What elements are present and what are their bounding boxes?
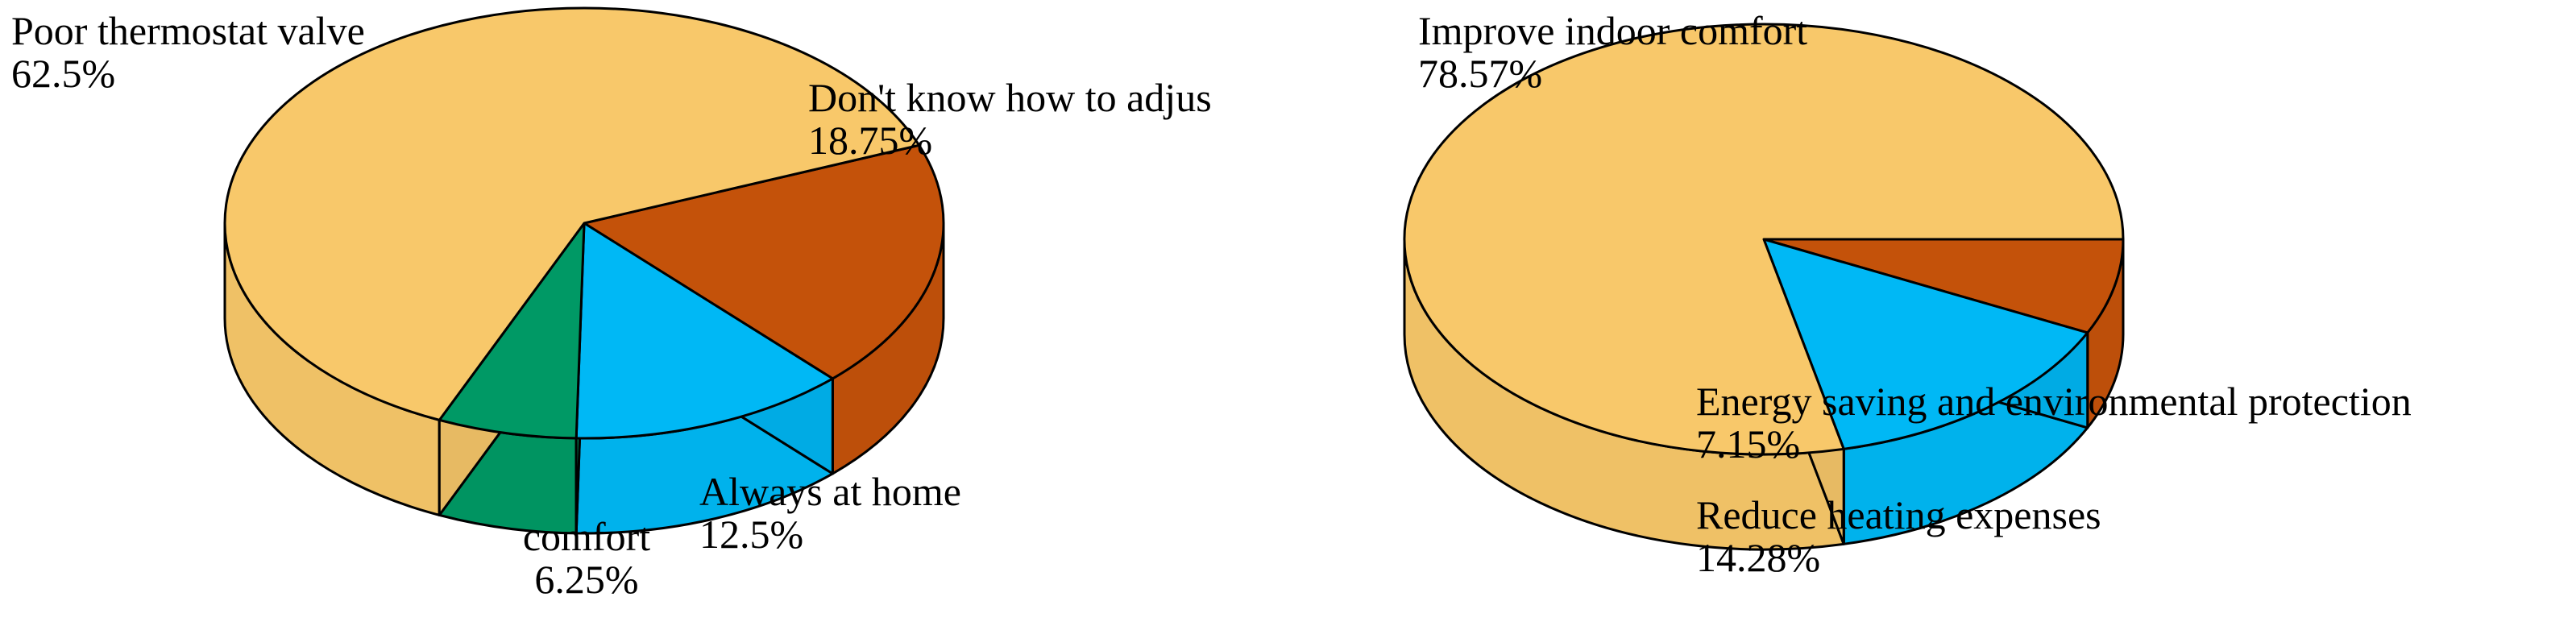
label-comfort-pct: 6.25% <box>514 558 659 601</box>
label-poor-thermostat-valve-name: Poor thermostat valve <box>11 8 365 53</box>
label-reduce-heating-expenses-pct: 14.28% <box>1696 537 2101 579</box>
label-dont-know-how-to-adjust: Don't know how to adjus 18.75% <box>808 77 1212 162</box>
label-energy-saving-pct: 7.15% <box>1696 423 2412 466</box>
label-always-at-home-pct: 12.5% <box>699 513 961 556</box>
pie-charts-figure: Poor thermostat valve 62.5% Don't know h… <box>0 0 2576 626</box>
label-improve-indoor-comfort-name: Improve indoor comfort <box>1418 8 1807 53</box>
label-improve-indoor-comfort: Improve indoor comfort 78.57% <box>1418 10 1807 95</box>
label-reduce-heating-expenses-name: Reduce heating expenses <box>1696 492 2101 537</box>
label-improve-indoor-comfort-pct: 78.57% <box>1418 52 1807 95</box>
label-always-at-home: Always at home 12.5% <box>699 471 961 556</box>
label-energy-saving: Energy saving and environmental protecti… <box>1696 380 2412 466</box>
label-comfort-name: comfort <box>523 514 650 559</box>
label-energy-saving-name: Energy saving and environmental protecti… <box>1696 379 2412 424</box>
label-poor-thermostat-valve-pct: 62.5% <box>11 52 365 95</box>
label-dont-know-how-to-adjust-name: Don't know how to adjus <box>808 75 1212 120</box>
right-pie-chart: Improve indoor comfort 78.57% Energy sav… <box>1257 0 2576 626</box>
label-reduce-heating-expenses: Reduce heating expenses 14.28% <box>1696 494 2101 579</box>
label-dont-know-how-to-adjust-pct: 18.75% <box>808 119 1212 162</box>
label-always-at-home-name: Always at home <box>699 469 961 514</box>
label-poor-thermostat-valve: Poor thermostat valve 62.5% <box>11 10 365 95</box>
left-pie-chart: Poor thermostat valve 62.5% Don't know h… <box>0 0 1257 626</box>
label-comfort: comfort 6.25% <box>514 516 659 601</box>
